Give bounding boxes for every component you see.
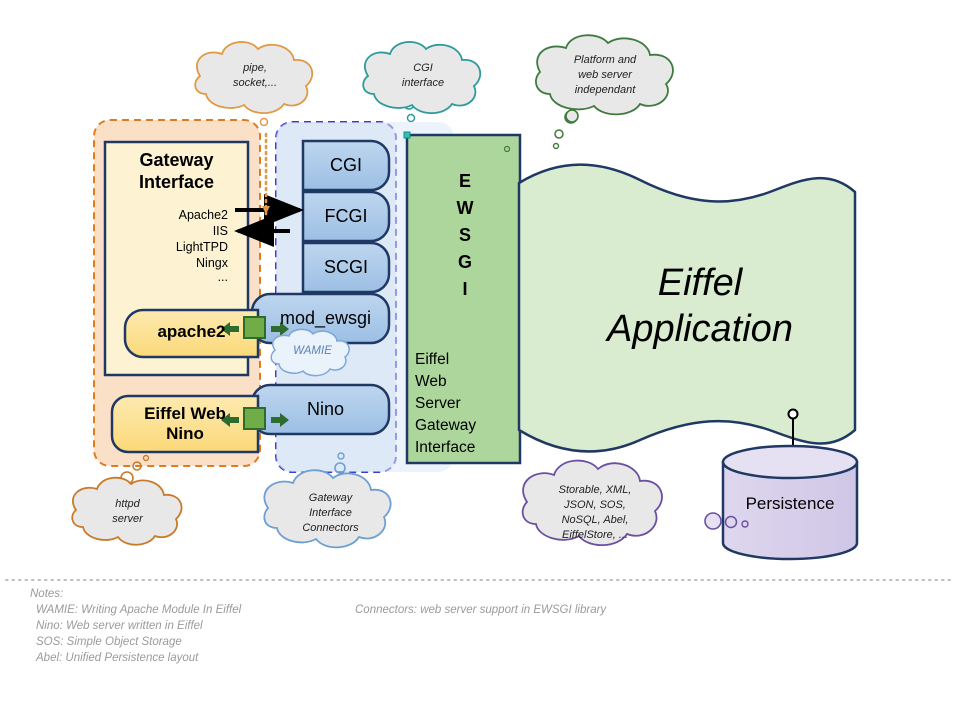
server-list-item-lighttpd: LightTPD — [108, 240, 228, 254]
ewsgi-expansion-server: Server — [415, 395, 461, 412]
eiffel-application-line1: Eiffel — [560, 262, 840, 305]
notes-heading: Notes: — [30, 588, 63, 601]
link-endpoint-top — [789, 410, 798, 419]
notes-left-line1: WAMIE: Writing Apache Module In Eiffel — [36, 604, 241, 617]
gateway-connectors-cloud-line2: Interface — [273, 507, 388, 521]
server-node-nino-label-line1: Eiffel Web — [112, 404, 258, 423]
httpd-cloud-line1: httpd — [80, 498, 175, 512]
platform-cloud-line1: Platform and — [545, 54, 665, 68]
platform-cloud-line3: independant — [545, 84, 665, 98]
httpd-cloud-line2: server — [80, 513, 175, 527]
server-node-nino-label-line2: Nino — [112, 424, 258, 443]
diagram-canvas: Gateway Interface Apache2 IIS LightTPD N… — [0, 0, 960, 720]
connector-node-fcgi-label: FCGI — [303, 206, 389, 226]
persistence-options-line1: Storable, XML, — [530, 484, 660, 498]
connector-node-cgi-label: CGI — [303, 155, 389, 175]
ewsgi-expansion-web: Web — [415, 373, 447, 390]
server-list-item-iis: IIS — [108, 224, 228, 238]
persistence-options-line4: EiffelStore, ... — [530, 529, 660, 543]
panel-handle-tl — [404, 132, 410, 138]
notes-left-line4: Abel: Unified Persistence layout — [36, 652, 198, 665]
gateway-interface-title-line2: Interface — [105, 172, 248, 192]
gateway-connectors-cloud-line3: Connectors — [273, 522, 388, 536]
pipe-socket-cloud-line2: socket,... — [205, 77, 305, 91]
connector-node-nino-label: Nino — [262, 399, 389, 419]
persistence-options-line2: JSON, SOS, — [530, 499, 660, 513]
cgi-interface-cloud-line1: CGI — [373, 62, 473, 76]
server-node-apache2-label: apache2 — [125, 322, 258, 341]
connector-node-scgi-label: SCGI — [303, 257, 389, 277]
ewsgi-letter-e: E — [437, 171, 493, 191]
persistence-options-line3: NoSQL, Abel, — [530, 514, 660, 528]
ewsgi-letter-w: W — [437, 198, 493, 218]
platform-cloud-anchor — [566, 110, 578, 122]
wamie-cloud-label: WAMIE — [275, 344, 350, 358]
notes-left-line3: SOS: Simple Object Storage — [36, 636, 182, 649]
gateway-interface-title-line1: Gateway — [105, 150, 248, 170]
notes-left-line2: Nino: Web server written in Eiffel — [36, 620, 203, 633]
ewsgi-expansion-gateway: Gateway — [415, 417, 476, 434]
ewsgi-letter-g: G — [437, 252, 493, 272]
cgi-interface-cloud-line2: interface — [373, 77, 473, 91]
server-list-item-ellipsis: ... — [108, 270, 228, 284]
connector-node-mod-ewsgi-label: mod_ewsgi — [262, 308, 389, 328]
ewsgi-letter-i: I — [437, 279, 493, 299]
notes-right-line1: Connectors: web server support in EWSGI … — [355, 604, 606, 617]
persistence-bubble-large — [705, 513, 721, 529]
eiffel-application-line2: Application — [560, 308, 840, 351]
ewsgi-expansion-interface: Interface — [415, 439, 475, 456]
platform-cloud-line2: web server — [545, 69, 665, 83]
gateway-connectors-cloud-line1: Gateway — [273, 492, 388, 506]
persistence-label: Persistence — [723, 494, 857, 513]
ewsgi-expansion-eiffel: Eiffel — [415, 351, 449, 368]
ewsgi-letter-s: S — [437, 225, 493, 245]
pipe-socket-cloud-line1: pipe, — [205, 62, 305, 76]
server-list-item-ningx: Ningx — [108, 256, 228, 270]
server-list-item-apache2: Apache2 — [108, 208, 228, 222]
